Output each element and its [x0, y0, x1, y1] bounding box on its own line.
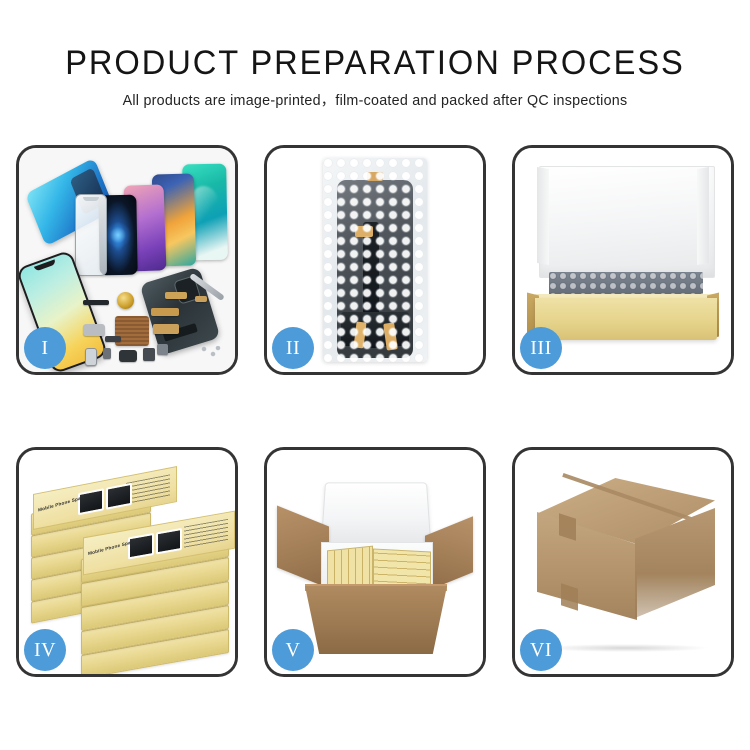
- step-number-badge-5: V: [272, 629, 314, 671]
- spare-part-graphic: [85, 348, 97, 366]
- step-number-badge-3: III: [520, 327, 562, 369]
- foam-lid-graphic: [321, 482, 431, 544]
- step-number-badge-2: II: [272, 327, 314, 369]
- printed-screen-image: [106, 483, 132, 510]
- spare-part-graphic: [83, 324, 105, 336]
- process-step-panel-3: III: [512, 145, 734, 375]
- page-title: PRODUCT PREPARATION PROCESS: [15, 0, 735, 83]
- process-step-grid: I II: [16, 145, 734, 677]
- printed-screen-image: [156, 528, 182, 555]
- connector-graphic: [341, 312, 409, 346]
- carton-shadow-graphic: [545, 644, 707, 652]
- tape-graphic: [355, 226, 373, 237]
- step-number-badge-4: IV: [24, 629, 66, 671]
- carton-body-graphic: [305, 586, 447, 654]
- flex-cable-graphic: [151, 308, 179, 316]
- product-preparation-infographic: PRODUCT PREPARATION PROCESS All products…: [0, 0, 750, 750]
- page-subtitle: All products are image-printed，film-coat…: [0, 83, 750, 110]
- spare-part-graphic: [103, 348, 111, 359]
- flex-cable-graphic: [153, 324, 179, 334]
- bubble-wrap-bag-graphic: [323, 158, 427, 362]
- yellow-box-graphic: [535, 298, 717, 340]
- flex-cable-graphic: [195, 296, 207, 302]
- process-step-panel-2: II: [264, 145, 486, 375]
- process-step-panel-5: V: [264, 447, 486, 677]
- white-box-lid-graphic: [539, 166, 715, 278]
- spare-part-graphic: [157, 344, 168, 355]
- box-lid-side-graphic: [537, 167, 549, 265]
- screws-graphic: [201, 346, 221, 358]
- step-number-badge-6: VI: [520, 629, 562, 671]
- flex-cable-graphic: [165, 292, 187, 299]
- spare-part-graphic: [143, 348, 155, 361]
- box-lid-side-graphic: [697, 167, 709, 265]
- process-step-panel-4: Mobile Phone Spare Parts Mobile Phone Sp…: [16, 447, 238, 677]
- screen-protector-graphic: [75, 194, 107, 276]
- carton-tape-graphic: [561, 583, 578, 611]
- spare-part-graphic: [105, 336, 121, 342]
- gold-component-graphic: [117, 292, 134, 309]
- print-text-lines-graphic: [184, 519, 228, 549]
- spare-part-graphic: [83, 300, 109, 305]
- spare-part-graphic: [119, 350, 137, 362]
- step-number-badge-1: I: [24, 327, 66, 369]
- process-step-panel-6: VI: [512, 447, 734, 677]
- process-step-panel-1: I: [16, 145, 238, 375]
- header: PRODUCT PREPARATION PROCESS All products…: [0, 0, 750, 110]
- tape-graphic: [367, 172, 383, 181]
- print-text-lines-graphic: [126, 474, 170, 505]
